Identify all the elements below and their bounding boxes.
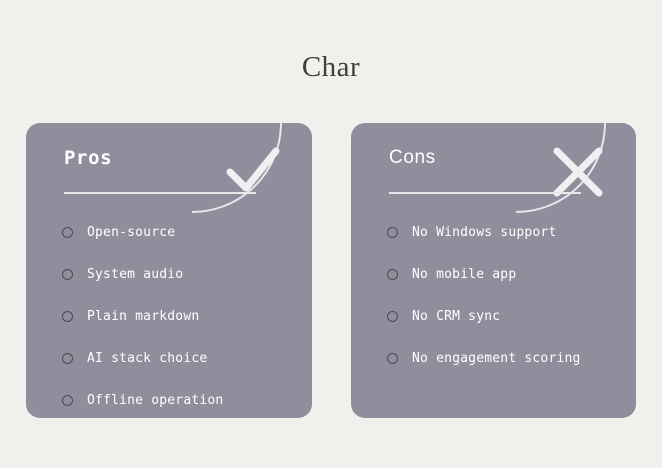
list-item: AI stack choice: [62, 337, 223, 379]
pros-item-list: Open-source System audio Plain markdown …: [62, 211, 223, 418]
list-item-label: No mobile app: [412, 267, 516, 282]
list-item-label: AI stack choice: [87, 351, 207, 366]
bullet-circle-icon: [387, 311, 398, 322]
bullet-circle-icon: [387, 227, 398, 238]
bullet-circle-icon: [62, 395, 73, 406]
list-item: No engagement scoring: [387, 337, 581, 379]
list-item-label: System audio: [87, 267, 183, 282]
bullet-circle-icon: [62, 353, 73, 364]
cons-card: Cons No Windows support No mobile app No…: [351, 123, 636, 418]
page-title: Char: [0, 51, 662, 84]
cons-item-list: No Windows support No mobile app No CRM …: [387, 211, 581, 379]
list-item: No CRM sync: [387, 295, 581, 337]
list-item: Open-source: [62, 211, 223, 253]
list-item-label: No Windows support: [412, 225, 556, 240]
list-item: System audio: [62, 253, 223, 295]
bullet-circle-icon: [62, 311, 73, 322]
pros-card-header: Pros: [64, 147, 112, 169]
list-item-label: No engagement scoring: [412, 351, 581, 366]
list-item-label: Offline operation: [87, 393, 223, 408]
list-item: Plain markdown: [62, 295, 223, 337]
bullet-circle-icon: [62, 227, 73, 238]
pros-card-divider: [64, 192, 256, 194]
list-item: Offline operation: [62, 379, 223, 418]
list-item-label: Open-source: [87, 225, 175, 240]
cons-card-header: Cons: [389, 147, 436, 169]
list-item: No mobile app: [387, 253, 581, 295]
pros-card: Pros Open-source System audio Plain mark…: [26, 123, 312, 418]
cons-card-divider: [389, 192, 581, 194]
list-item-label: No CRM sync: [412, 309, 500, 324]
list-item: No Windows support: [387, 211, 581, 253]
bullet-circle-icon: [387, 353, 398, 364]
list-item-label: Plain markdown: [87, 309, 199, 324]
bullet-circle-icon: [62, 269, 73, 280]
bullet-circle-icon: [387, 269, 398, 280]
